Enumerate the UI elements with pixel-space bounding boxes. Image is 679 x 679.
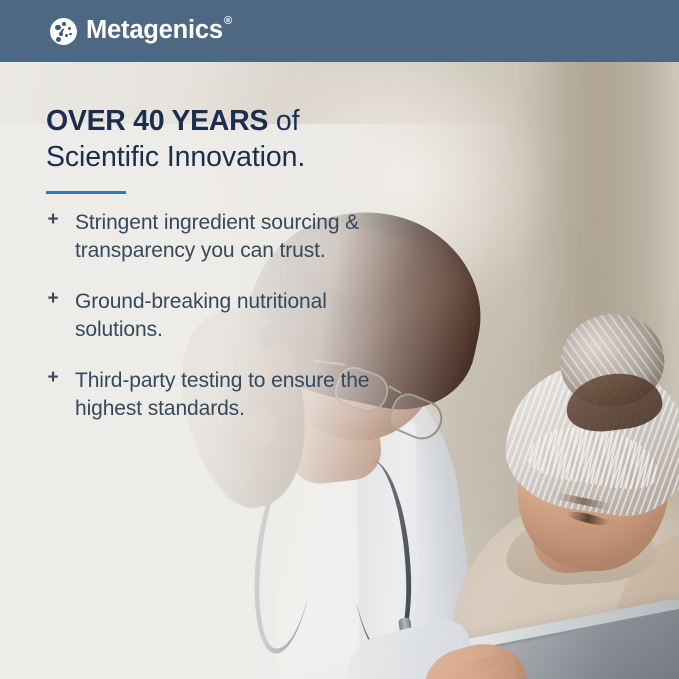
page-title: OVER 40 YEARS of Scientific Innovation.	[46, 103, 376, 175]
benefits-list: + Stringent ingredient sourcing & transp…	[46, 209, 376, 423]
brand-name-text: Metagenics	[86, 16, 223, 44]
plus-icon: +	[46, 213, 60, 227]
brand-header-bar: Metagenics ®	[0, 0, 679, 62]
accent-divider	[46, 191, 126, 194]
list-item: + Third-party testing to ensure the high…	[46, 367, 376, 423]
headline-line-2: Scientific Innovation.	[46, 141, 305, 173]
list-item-label: Ground-breaking nutritional solutions.	[75, 290, 327, 341]
marketing-copy-block: OVER 40 YEARS of Scientific Innovation. …	[46, 103, 376, 423]
metagenics-molecule-icon	[50, 18, 77, 45]
list-item-label: Stringent ingredient sourcing & transpar…	[75, 211, 359, 262]
headline-emphasis: OVER 40 YEARS	[46, 105, 268, 137]
headline-rest: of	[268, 105, 299, 137]
advertisement-canvas: Metagenics ® OVER 40 YEARS of Scientific…	[0, 0, 679, 679]
list-item-label: Third-party testing to ensure the highes…	[75, 369, 369, 420]
plus-icon: +	[46, 292, 60, 306]
registered-trademark-symbol: ®	[224, 16, 232, 27]
brand-wordmark: Metagenics ®	[86, 18, 223, 44]
plus-icon: +	[46, 371, 60, 385]
list-item: + Ground-breaking nutritional solutions.	[46, 288, 376, 344]
list-item: + Stringent ingredient sourcing & transp…	[46, 209, 376, 265]
